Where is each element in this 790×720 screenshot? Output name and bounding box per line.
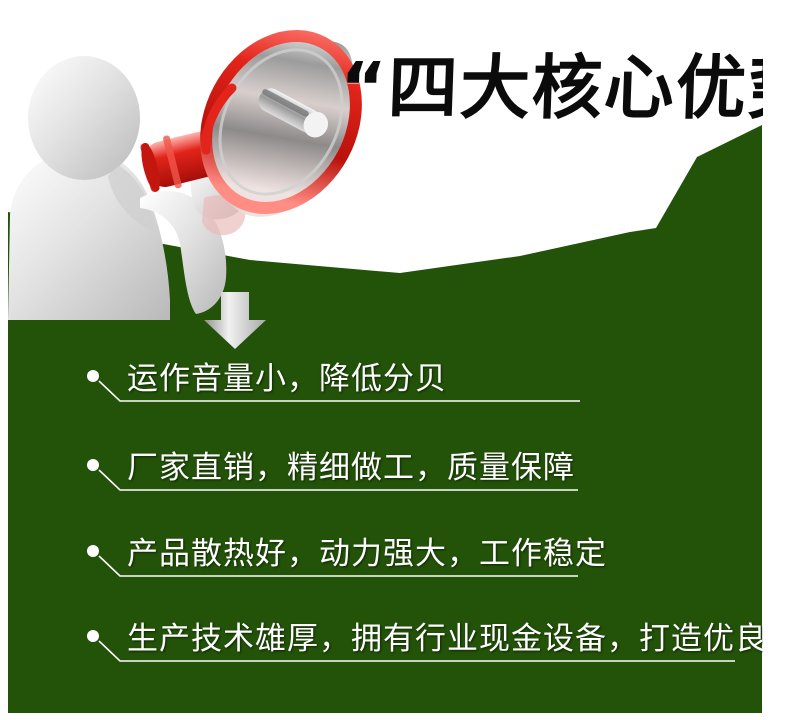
list-item: 产品散热好，动力强大，工作稳定 [0,532,790,594]
advantage-text-4: 生产技术雄厚，拥有行业现金设备，打造优良产品 [127,617,790,661]
list-item: 生产技术雄厚，拥有行业现金设备，打造优良产品 [0,617,790,679]
advantage-text-1: 运作音量小，降低分贝 [127,357,447,401]
list-item: 运作音量小，降低分贝 [0,357,790,419]
right-margin-strip [763,0,790,720]
advantage-text-3: 产品散热好，动力强大，工作稳定 [127,532,607,576]
left-margin-strip [0,0,8,720]
list-item: 厂家直销，精细做工，质量保障 [0,446,790,508]
bottom-margin-strip [0,713,790,720]
advantage-text-2: 厂家直销，精细做工，质量保障 [127,446,575,490]
promo-banner: “四大核心优势” 运作音量小，降低分贝 厂家直销，精细做工，质量保障 产 [0,0,790,720]
advantage-list: 运作音量小，降低分贝 厂家直销，精细做工，质量保障 产品散热好，动力强大，工作稳… [0,0,790,720]
